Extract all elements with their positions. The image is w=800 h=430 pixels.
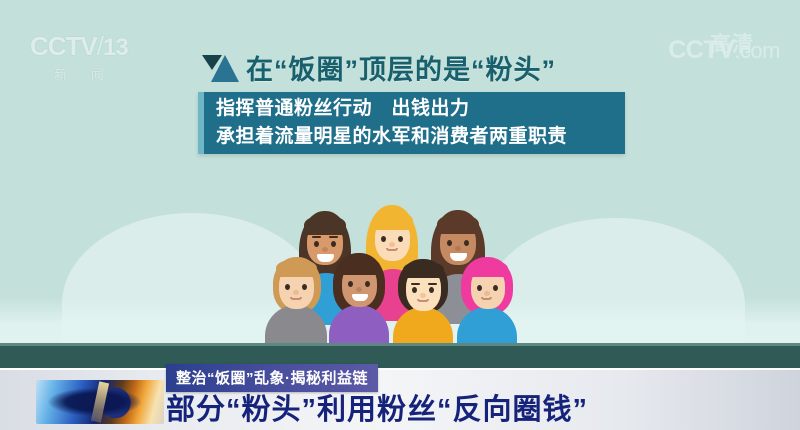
people-illustration [275, 193, 525, 343]
subtitle-line-1: 指挥普通粉丝行动 出钱出力 [216, 95, 567, 123]
triangle-marker-icon [202, 53, 238, 83]
lower-third-title: 部分“粉头”利用粉丝“反向圈钱” [166, 386, 588, 428]
subtitle-line-2: 承担着流量明星的水军和消费者两重职责 [216, 123, 567, 151]
cctv-13-logo: CCTV/13 新 闻 [30, 33, 138, 81]
headline-row: 在“饭圈”顶层的是“粉头” [202, 48, 556, 87]
cctv-com-watermark: 高清 CCTV.com [668, 36, 780, 65]
triangle-up-icon [211, 55, 239, 82]
headline-text: 在“饭圈”顶层的是“粉头” [246, 48, 556, 87]
broadcast-screen: CCTV/13 新 闻 高清 CCTV.com 在“饭圈”顶层的是“粉头” 指挥… [0, 0, 800, 430]
cctv-13-logo-mark: CCTV/13 [30, 33, 138, 60]
cctv-channel-number: 13 [103, 34, 128, 61]
news-swirl-graphic [36, 380, 164, 424]
subtitle-box: 指挥普通粉丝行动 出钱出力 承担着流量明星的水军和消费者两重职责 [198, 92, 625, 154]
cctv-channel-sub-label: 新 闻 [30, 64, 138, 83]
cctv-logo-slash: / [97, 31, 103, 61]
subtitle-lines: 指挥普通粉丝行动 出钱出力 承担着流量明星的水军和消费者两重职责 [204, 95, 567, 150]
cctv-brand-text: CCTV [30, 31, 97, 61]
hd-badge-label: 高清 [710, 28, 754, 58]
